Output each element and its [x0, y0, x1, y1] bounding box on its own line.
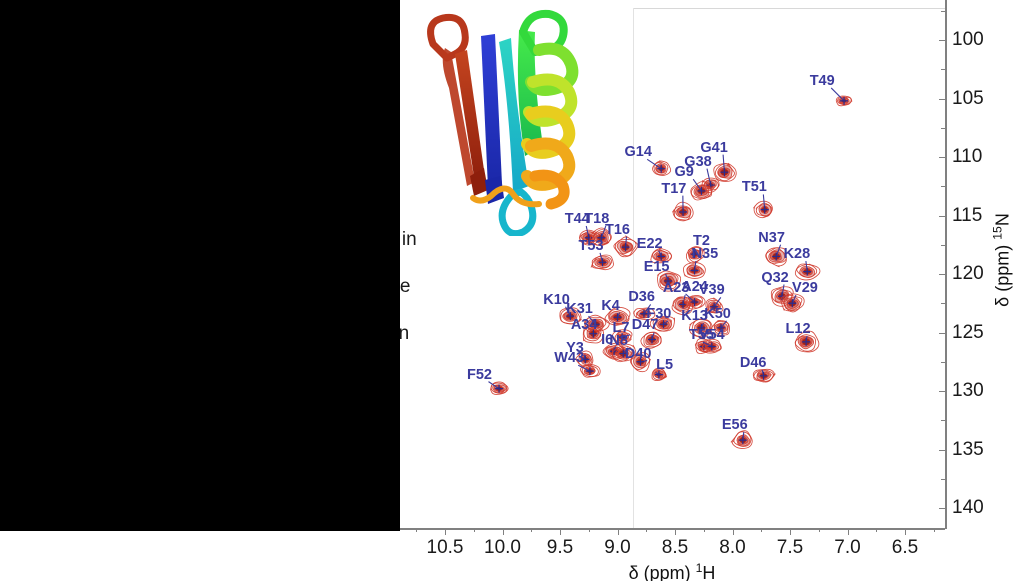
x-minor-tick	[474, 528, 475, 532]
x-axis-nucleus: H	[702, 563, 715, 581]
y-tick-label-135: 135	[952, 439, 984, 461]
x-axis-title: δ (ppm) 1H	[629, 561, 716, 581]
x-minor-tick	[416, 528, 417, 532]
y-tick-120	[939, 274, 946, 275]
x-axis-nucleus-superscript: 1	[696, 561, 703, 575]
x-axis-title-delta: δ (ppm)	[629, 563, 696, 581]
x-tick-7.0	[848, 528, 849, 535]
y-axis-nucleus-superscript: 15	[991, 226, 1005, 240]
y-tick-label-115: 115	[952, 205, 982, 227]
x-tick-label-8.5: 8.5	[662, 537, 688, 559]
y-tick-125	[939, 333, 946, 334]
y-tick-label-130: 130	[952, 380, 984, 402]
y-tick-110	[939, 157, 946, 158]
x-tick-8.5	[675, 528, 676, 535]
y-minor-tick	[941, 420, 946, 421]
x-tick-label-9.5: 9.5	[547, 537, 573, 559]
x-tick-label-10.0: 10.0	[484, 537, 521, 559]
x-minor-tick	[761, 528, 762, 532]
y-axis-title: δ (ppm) 15N	[991, 213, 1014, 307]
y-minor-tick	[941, 303, 946, 304]
x-minor-tick	[934, 528, 935, 532]
x-minor-tick	[704, 528, 705, 532]
x-tick-label-10.5: 10.5	[427, 537, 464, 559]
y-minor-tick	[941, 69, 946, 70]
y-tick-label-105: 105	[952, 88, 984, 110]
y-minor-tick	[941, 186, 946, 187]
x-tick-9.5	[560, 528, 561, 535]
x-tick-10.5	[445, 528, 446, 535]
y-tick-label-120: 120	[952, 263, 984, 285]
y-tick-label-125: 125	[952, 322, 984, 344]
y-minor-tick	[941, 479, 946, 480]
x-tick-label-8.0: 8.0	[719, 537, 745, 559]
occluding-bar	[0, 0, 400, 531]
x-axis-line	[400, 528, 945, 530]
y-tick-105	[939, 99, 946, 100]
x-tick-8.0	[733, 528, 734, 535]
x-minor-tick	[531, 528, 532, 532]
x-tick-10.0	[503, 528, 504, 535]
y-minor-tick	[941, 11, 946, 12]
x-minor-tick	[819, 528, 820, 532]
peak-D47	[641, 332, 661, 348]
x-tick-label-6.5: 6.5	[892, 537, 918, 559]
y-tick-135	[939, 450, 946, 451]
y-tick-100	[939, 40, 946, 41]
x-tick-7.5	[790, 528, 791, 535]
figure-root: T49G14G38G41G9T17T51T44T18T16T53E22T2N35…	[0, 0, 1024, 581]
x-tick-label-9.0: 9.0	[604, 537, 630, 559]
y-minor-tick	[941, 245, 946, 246]
x-minor-tick	[876, 528, 877, 532]
x-tick-label-7.5: 7.5	[777, 537, 803, 559]
y-tick-label-110: 110	[952, 146, 982, 168]
y-minor-tick	[941, 128, 946, 129]
peak-leader-T49	[831, 88, 844, 101]
y-axis-nucleus: N	[993, 213, 1013, 226]
y-tick-115	[939, 216, 946, 217]
x-tick-6.5	[905, 528, 906, 535]
peak-T2	[686, 247, 704, 264]
y-axis-title-delta: δ (ppm)	[993, 240, 1013, 307]
x-tick-9.0	[618, 528, 619, 535]
y-minor-tick	[941, 362, 946, 363]
y-tick-label-140: 140	[952, 497, 984, 519]
peak-T18	[590, 228, 611, 246]
y-tick-label-100: 100	[952, 29, 984, 51]
x-minor-tick	[646, 528, 647, 532]
y-tick-140	[939, 508, 946, 509]
x-minor-tick	[589, 528, 590, 532]
y-tick-130	[939, 391, 946, 392]
x-tick-label-7.0: 7.0	[834, 537, 860, 559]
